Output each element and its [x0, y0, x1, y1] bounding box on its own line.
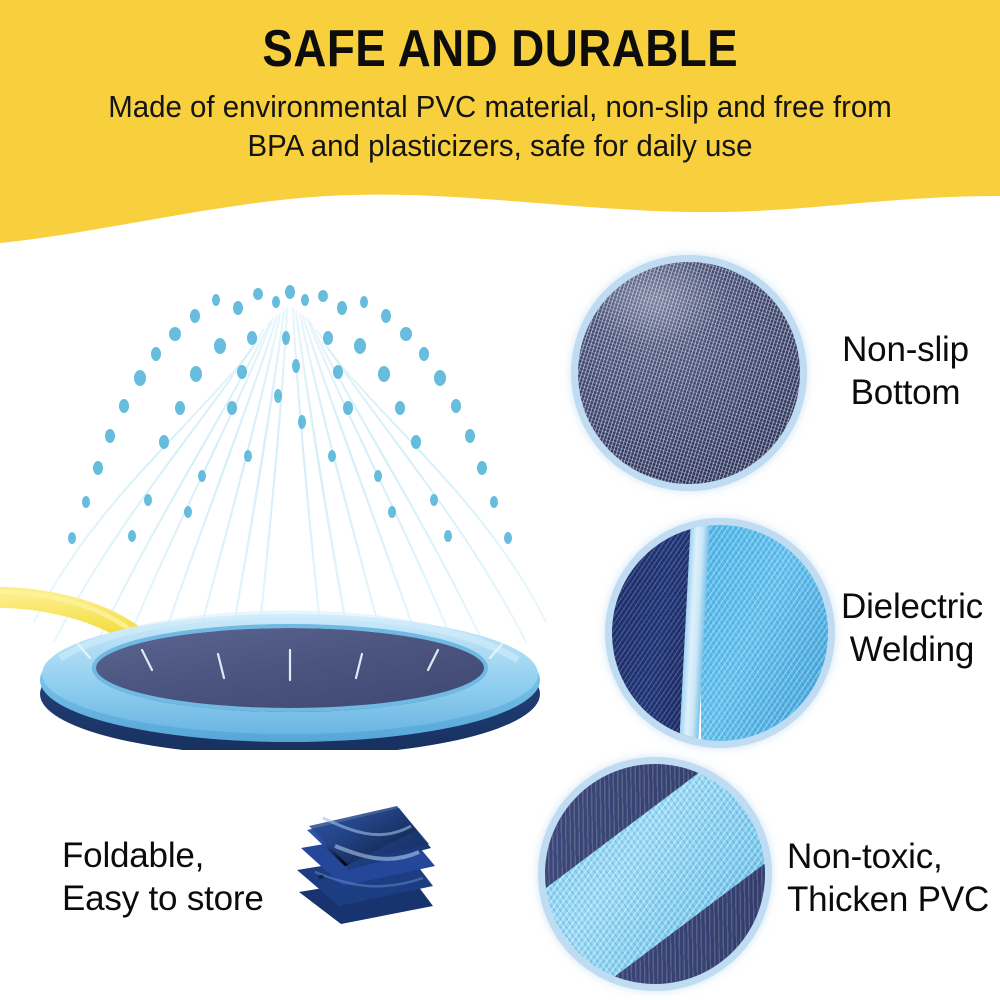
feature-label-dielectric-welding: Dielectric Welding: [826, 586, 998, 671]
feature-label-line-2: Thicken PVC: [787, 879, 997, 922]
folded-pvc-mat-image: [283, 774, 463, 974]
subtitle-line-1: Made of environmental PVC material, non-…: [108, 88, 892, 127]
feature-label-line-2: Welding: [826, 629, 998, 672]
sprinkler-product-image: [0, 250, 590, 750]
product-feature-infographic: SAFE AND DURABLE Made of environmental P…: [0, 0, 1000, 1000]
feature-label-line-2: Easy to store: [62, 878, 292, 921]
header-banner: SAFE AND DURABLE Made of environmental P…: [0, 0, 1000, 260]
feature-label-non-slip-bottom: Non-slip Bottom: [818, 329, 993, 414]
feature-label-foldable: Foldable, Easy to store: [62, 835, 292, 920]
folded-mat-stack: [297, 806, 435, 924]
feature-swatch-dielectric-welding: [612, 525, 828, 741]
feature-label-line-1: Non-slip: [818, 329, 993, 372]
feature-label-line-1: Dielectric: [826, 586, 998, 629]
subtitle-line-2: BPA and plasticizers, safe for daily use: [108, 127, 892, 166]
feature-label-line-2: Bottom: [818, 372, 993, 415]
mesh-gloss-overlay: [578, 262, 800, 484]
page-title: SAFE AND DURABLE: [262, 22, 738, 76]
feature-swatch-non-toxic-thicken-pvc: [545, 764, 765, 984]
feature-swatch-non-slip-bottom: [578, 262, 800, 484]
feature-label-line-1: Non-toxic,: [787, 836, 997, 879]
feature-label-non-toxic-thicken-pvc: Non-toxic, Thicken PVC: [787, 836, 997, 921]
page-subtitle: Made of environmental PVC material, non-…: [108, 88, 892, 166]
feature-label-line-1: Foldable,: [62, 835, 292, 878]
light-blue-pvc-panel: [701, 525, 828, 741]
